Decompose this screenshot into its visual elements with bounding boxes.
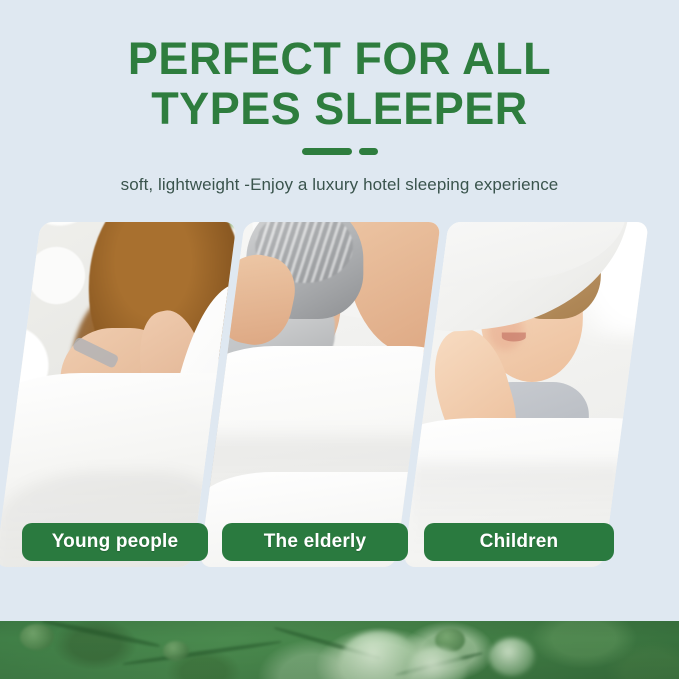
page-title: PERFECT FOR ALL TYPES SLEEPER [0, 34, 679, 134]
sleeper-card-children[interactable] [403, 222, 648, 567]
sleeper-card-the-elderly[interactable] [199, 222, 440, 567]
sleeper-card-young-people[interactable] [0, 222, 237, 567]
product-feature-banner: PERFECT FOR ALL TYPES SLEEPER soft, ligh… [0, 0, 679, 679]
title-divider [297, 148, 383, 155]
sleeper-type-card-row [0, 222, 679, 567]
subtitle: soft, lightweight -Enjoy a luxury hotel … [0, 174, 679, 196]
card-label-the-elderly[interactable]: The elderly [222, 523, 408, 561]
scene-toddler-sleeping [403, 222, 648, 567]
photo-young-people [0, 222, 237, 567]
header-block: PERFECT FOR ALL TYPES SLEEPER soft, ligh… [0, 0, 679, 196]
photo-children [403, 222, 648, 567]
photo-the-elderly [199, 222, 440, 567]
card-label-text: Young people [52, 531, 179, 553]
card-label-young-people[interactable]: Young people [22, 523, 208, 561]
scene-young-woman-sleeping [0, 222, 237, 567]
card-label-text: The elderly [264, 531, 367, 553]
card-label-text: Children [480, 531, 559, 553]
scene-older-man-resting [199, 222, 440, 567]
foliage-footer-band [0, 621, 679, 679]
mouth [502, 332, 526, 341]
headline-line-1: PERFECT FOR ALL [0, 34, 679, 84]
divider-long-dash [302, 148, 352, 155]
card-label-children[interactable]: Children [424, 523, 614, 561]
divider-short-dash [359, 148, 378, 155]
headline-line-2: TYPES SLEEPER [0, 84, 679, 134]
